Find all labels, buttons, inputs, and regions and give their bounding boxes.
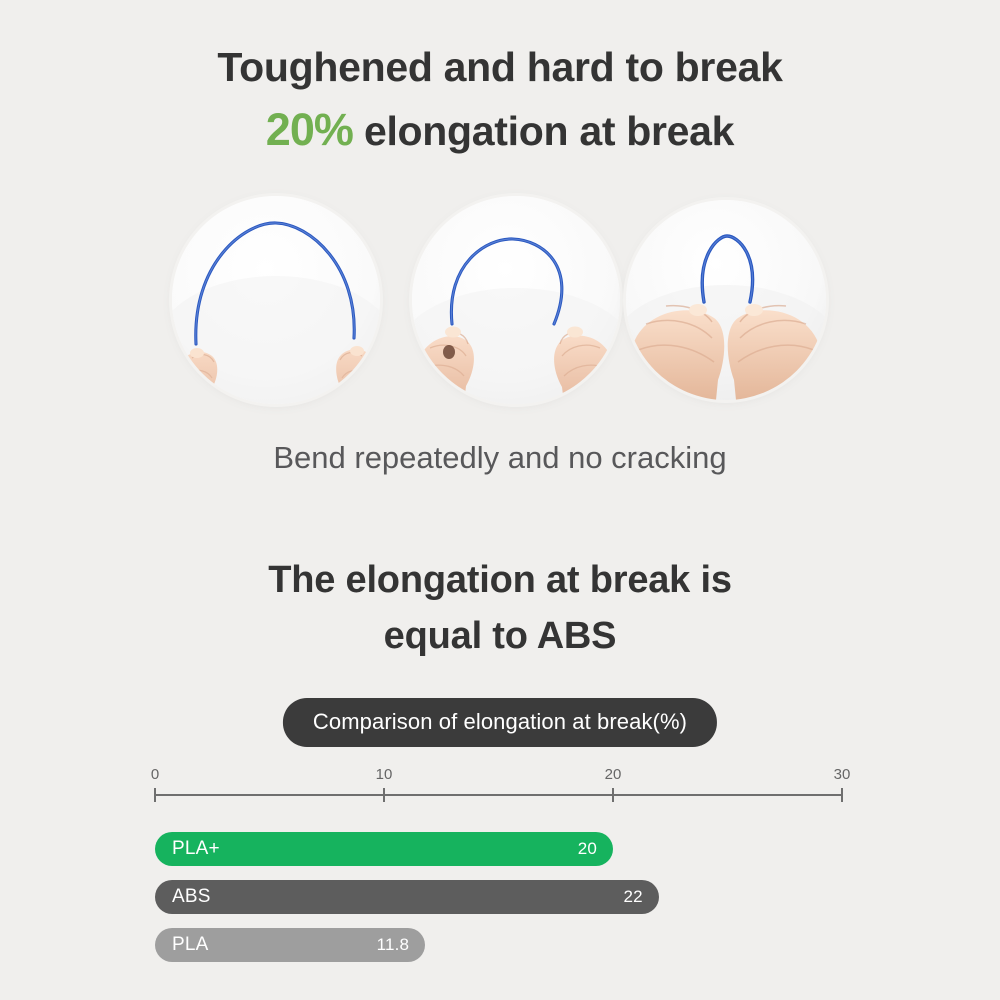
elongation-percent-value: 20% bbox=[266, 104, 353, 155]
subheading-line-1: The elongation at break is bbox=[0, 552, 1000, 608]
bar-value-label: 20 bbox=[578, 839, 597, 859]
headline-line-1: Toughened and hard to break bbox=[0, 38, 1000, 97]
subheading-block: The elongation at break is equal to ABS bbox=[0, 552, 1000, 664]
bar-row: PLA+20 bbox=[0, 832, 1000, 866]
chart-bars: PLA+20ABS22PLA11.8 bbox=[0, 832, 1000, 976]
bar-pla-plus: PLA+20 bbox=[155, 832, 613, 866]
bar-value-label: 22 bbox=[623, 887, 642, 907]
subheading-line-2: equal to ABS bbox=[0, 608, 1000, 664]
bar-row: ABS22 bbox=[0, 880, 1000, 914]
axis-tick-label-0: 0 bbox=[151, 766, 159, 783]
axis-tick-label-30: 30 bbox=[834, 766, 851, 783]
bend-stage-medium-photo bbox=[412, 196, 620, 404]
bar-row: PLA11.8 bbox=[0, 928, 1000, 962]
elongation-comparison-chart: 0102030 PLA+20ABS22PLA11.8 bbox=[0, 770, 1000, 990]
bar-category-label: ABS bbox=[172, 886, 211, 908]
axis-tick-20 bbox=[612, 788, 614, 802]
axis-tick-10 bbox=[383, 788, 385, 802]
axis-tick-30 bbox=[841, 788, 843, 802]
bend-stage-tight-photo bbox=[626, 200, 826, 400]
axis-tick-0 bbox=[154, 788, 156, 802]
bar-pla: PLA11.8 bbox=[155, 928, 425, 962]
axis-tick-label-10: 10 bbox=[376, 766, 393, 783]
chart-x-axis: 0102030 bbox=[155, 788, 842, 802]
bend-demo-photo-row bbox=[0, 196, 1000, 404]
bar-abs: ABS22 bbox=[155, 880, 659, 914]
headline-line-2: 20% elongation at break bbox=[0, 97, 1000, 162]
bend-stage-wide-photo bbox=[172, 196, 380, 404]
axis-line bbox=[155, 794, 842, 796]
bar-category-label: PLA+ bbox=[172, 838, 220, 860]
bar-category-label: PLA bbox=[172, 934, 209, 956]
bend-demo-caption: Bend repeatedly and no cracking bbox=[0, 440, 1000, 476]
headline-line-2-rest: elongation at break bbox=[353, 108, 734, 154]
headline-block: Toughened and hard to break 20% elongati… bbox=[0, 0, 1000, 163]
axis-tick-label-20: 20 bbox=[605, 766, 622, 783]
bar-value-label: 11.8 bbox=[377, 935, 410, 955]
chart-title-pill: Comparison of elongation at break(%) bbox=[283, 698, 717, 747]
